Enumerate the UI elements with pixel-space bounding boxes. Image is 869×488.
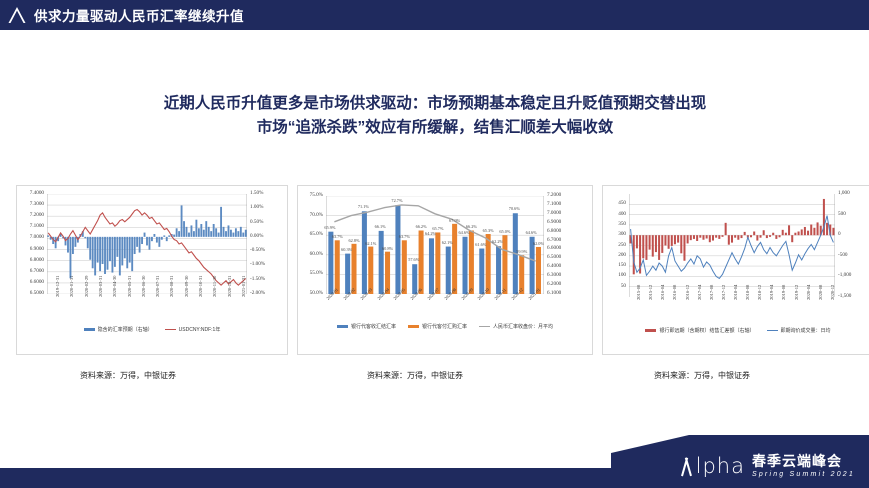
- chart-2-y-tick-left: 65.0%: [298, 232, 323, 237]
- legend-swatch-icon: [165, 329, 176, 331]
- chart-1-x-tick: 2020-02-29: [85, 276, 90, 297]
- chart-3-x-tick: 2020-04: [807, 285, 812, 300]
- chart-2-bar-label: 64.6%: [526, 231, 537, 235]
- chart-1-x-tick: 2021-01-31: [242, 276, 247, 297]
- legend-label: 人民币汇率收盘价：月平均: [493, 323, 553, 330]
- legend-label: 隐含的汇率预期（右轴）: [98, 326, 153, 333]
- summit-cn-title: 春季云端峰会: [752, 454, 842, 469]
- chart-2-bar-label: 64.2%: [425, 232, 436, 236]
- chart-2-bar-label: 60.8%: [382, 247, 393, 251]
- charts-row: 2019-12-312020-01-312020-02-292020-03-31…: [16, 185, 856, 355]
- chart-2-y-tick-right: 6.3000: [547, 273, 561, 278]
- alpha-a-icon: [678, 457, 695, 476]
- chart-2-bar-label: 65.3%: [483, 229, 494, 233]
- chart-3-x-tick: 2016-08: [673, 285, 678, 300]
- chart-3-y-tick-right: -1,500: [838, 294, 851, 299]
- legend-label: 银行即远期（含期权）结售汇差额（右轴）: [659, 327, 754, 334]
- chart-2-bar-label: 63.7%: [332, 235, 343, 239]
- chart-3-x-tick: 2017-08: [710, 285, 715, 300]
- legend-swatch-icon: [645, 329, 656, 332]
- chart-3-x-tick: 2017-12: [722, 285, 727, 300]
- chart-3-x-tick: 2018-04: [734, 285, 739, 300]
- footer-branding: lpha 春季云端峰会 Spring Summit 2021: [678, 454, 855, 478]
- chart-1-y-tick-right: 1.00%: [250, 205, 263, 210]
- chart-3-x-tick: 2018-12: [758, 285, 763, 300]
- chart-3-x-tick: 2017-04: [698, 285, 703, 300]
- chart-1-y-tick-left: 6.7000: [17, 269, 44, 274]
- chart-1-y-tick-right: -1.00%: [250, 262, 265, 267]
- legend-swatch-icon: [479, 326, 490, 328]
- chart-3-x-tick: 2020-08: [819, 285, 824, 300]
- chart-2-bar-label: 64.6%: [459, 231, 470, 235]
- alpha-brand-text: lpha: [696, 454, 745, 478]
- chart-2-y-tick-right: 6.4000: [547, 264, 561, 269]
- source-note-chart-1: 资料来源：万得，中银证券: [80, 370, 176, 381]
- chart-3-y-tick-right: -1,000: [838, 273, 851, 278]
- summit-en-title: Spring Summit 2021: [752, 471, 855, 478]
- chart-3-y-tick-right: -500: [838, 253, 848, 258]
- chart-2-bar-label: 62.0%: [533, 242, 544, 246]
- legend-item: USDCNY:NDF:1年: [165, 326, 221, 333]
- source-note-chart-2: 资料来源：万得，中银证券: [367, 370, 463, 381]
- chart-2-bar-label: 62.1%: [365, 242, 376, 246]
- slide-root: 供求力量驱动人民币汇率继续升值 近期人民币升值更多是市场供求驱动：市场预期基本稳…: [0, 0, 869, 488]
- chart-1-x-tick: 2020-09-30: [185, 276, 190, 297]
- slide-subtitle: 近期人民币升值更多是市场供求驱动：市场预期基本稳定且升贬值预期交替出现 市场“追…: [40, 92, 830, 140]
- chart-1-y-tick-left: 7.2000: [17, 213, 44, 218]
- chart-1-y-tick-right: -2.00%: [250, 291, 265, 296]
- legend-item: 银行代客付汇购汇率: [408, 323, 467, 330]
- chart-2-bar-label: 67.9%: [449, 219, 460, 223]
- legend-label: 即期询价成交量：日均: [781, 327, 831, 334]
- slide-header: 供求力量驱动人民币汇率继续升值: [0, 0, 869, 30]
- chart-2-y-tick-left: 70.0%: [298, 213, 323, 218]
- chart-2-bar-label: 66.2%: [466, 225, 477, 229]
- chart-3-x-tick: 2015-12: [649, 285, 654, 300]
- chart-panel-3: 2015-082015-122016-042016-082016-122017-…: [602, 185, 869, 355]
- chart-3-x-tick: 2016-12: [686, 285, 691, 300]
- chart-2-bar-label: 71.1%: [358, 205, 369, 209]
- triangle-mark-icon: [0, 6, 34, 24]
- legend-swatch-icon: [84, 328, 95, 331]
- chart-3-x-tick: 2019-12: [795, 285, 800, 300]
- legend-swatch-icon: [767, 330, 778, 332]
- legend-label: 银行代客付汇购汇率: [422, 323, 467, 330]
- chart-1-x-tick: 2020-10-31: [199, 276, 204, 297]
- chart-1-x-tick: 2019-12-31: [56, 276, 61, 297]
- chart-1-y-tick-left: 6.9000: [17, 247, 44, 252]
- chart-2-y-tick-right: 6.8000: [547, 229, 561, 234]
- chart-1-x-tick: 2020-07-31: [156, 276, 161, 297]
- chart-2-y-tick-right: 6.2000: [547, 282, 561, 287]
- chart-1-y-tick-right: 0.00%: [250, 234, 263, 239]
- legend-swatch-icon: [337, 325, 348, 328]
- chart-2-bar-label: 72.7%: [391, 199, 402, 203]
- chart-3-x-tick: 2019-08: [782, 285, 787, 300]
- subtitle-line-1: 近期人民币升值更多是市场供求驱动：市场预期基本稳定且升贬值预期交替出现: [40, 92, 830, 116]
- page-title: 供求力量驱动人民币汇率继续升值: [34, 5, 244, 25]
- chart-1-y-tick-left: 6.5000: [17, 291, 44, 296]
- chart-3-y-tick-left: 200: [603, 253, 626, 258]
- legend-label: 银行代客收汇结汇率: [351, 323, 396, 330]
- chart-2-bar-label: 65.0%: [499, 230, 510, 234]
- chart-1-y-tick-right: 0.50%: [250, 220, 263, 225]
- chart-1-x-tick: 2020-12-31: [228, 276, 233, 297]
- chart-2-y-tick-right: 6.1000: [547, 291, 561, 296]
- chart-1-x-tick: 2020-08-31: [170, 276, 175, 297]
- chart-1-x-tick: 2020-04-30: [113, 276, 118, 297]
- chart-1-x-tick: 2020-06-30: [142, 276, 147, 297]
- source-note-chart-3: 资料来源：万得，中银证券: [654, 370, 750, 381]
- chart-2-y-tick-left: 60.0%: [298, 252, 323, 257]
- chart-2-bar-label: 62.1%: [442, 241, 453, 245]
- chart-3-plot-area: [629, 194, 835, 297]
- chart-2-y-tick-right: 6.9000: [547, 220, 561, 225]
- legend-item: 即期询价成交量：日均: [767, 327, 831, 334]
- chart-2-y-tick-left: 55.0%: [298, 271, 323, 276]
- chart-2-y-tick-left: 50.0%: [298, 291, 323, 296]
- chart-2-bar-label: 61.6%: [475, 243, 486, 247]
- chart-1-y-tick-left: 7.3000: [17, 202, 44, 207]
- chart-1-y-tick-left: 7.0000: [17, 235, 44, 240]
- chart-panel-1: 2019-12-312020-01-312020-02-292020-03-31…: [16, 185, 288, 355]
- legend-item: 银行即远期（含期权）结售汇差额（右轴）: [645, 327, 754, 334]
- chart-3-y-tick-left: 50: [603, 284, 626, 289]
- chart-1-y-tick-left: 7.4000: [17, 191, 44, 196]
- legend-item: 人民币汇率收盘价：月平均: [479, 323, 553, 330]
- chart-2-bar-label: 66.2%: [416, 225, 427, 229]
- chart-2-y-tick-left: 75.0%: [298, 193, 323, 198]
- chart-2-bar-label: 65.9%: [324, 226, 335, 230]
- chart-3-y-tick-left: 100: [603, 273, 626, 278]
- chart-2-bar-label: 59.9%: [516, 250, 527, 254]
- chart-3-x-tick: 2020-12: [831, 285, 836, 300]
- chart-2-bar-label: 63.7%: [399, 235, 410, 239]
- chart-2-bar-label: 62.2%: [492, 240, 503, 244]
- chart-1-y-tick-right: -0.50%: [250, 248, 265, 253]
- chart-3-y-tick-left: 300: [603, 232, 626, 237]
- chart-3-x-tick: 2015-08: [637, 285, 642, 300]
- chart-1-y-tick-left: 6.6000: [17, 280, 44, 285]
- chart-1-y-tick-right: 1.50%: [250, 191, 263, 196]
- chart-1-y-tick-right: -1.50%: [250, 277, 265, 282]
- chart-1-y-tick-left: 7.1000: [17, 224, 44, 229]
- chart-3-x-tick: 2016-04: [661, 285, 666, 300]
- chart-3-y-tick-left: 250: [603, 243, 626, 248]
- alpha-wordmark: lpha: [678, 454, 745, 478]
- chart-3-y-tick-right: 1,000: [838, 191, 850, 196]
- chart-2-bar-label: 62.8%: [348, 239, 359, 243]
- chart-3-y-tick-right: 0: [838, 232, 841, 237]
- chart-2-bar-label: 57.6%: [408, 258, 419, 262]
- chart-3-x-tick: 2019-04: [770, 285, 775, 300]
- chart-2-y-tick-right: 7.1000: [547, 202, 561, 207]
- chart-1-y-tick-left: 6.8000: [17, 258, 44, 263]
- chart-1-x-tick: 2020-05-31: [128, 276, 133, 297]
- chart-2-bar-label: 70.6%: [509, 207, 520, 211]
- subtitle-line-2: 市场“追涨杀跌”效应有所缓解，结售汇顺差大幅收敛: [40, 116, 830, 140]
- chart-2-legend: 银行代客收汇结汇率银行代客付汇购汇率人民币汇率收盘价：月平均: [298, 323, 592, 330]
- legend-item: 银行代客收汇结汇率: [337, 323, 396, 330]
- chart-panel-2: 2020-012020-022020-032020-042020-052020-…: [297, 185, 593, 355]
- summit-title-block: 春季云端峰会 Spring Summit 2021: [752, 454, 855, 478]
- legend-label: USDCNY:NDF:1年: [179, 326, 221, 333]
- legend-item: 隐含的汇率预期（右轴）: [84, 326, 153, 333]
- chart-2-bar-label: 66.1%: [375, 225, 386, 229]
- chart-2-y-tick-right: 7.0000: [547, 211, 561, 216]
- chart-1-legend: 隐含的汇率预期（右轴）USDCNY:NDF:1年: [17, 326, 287, 333]
- chart-3-svg: [629, 194, 835, 297]
- chart-2-bar-label: 65.7%: [432, 227, 443, 231]
- chart-3-legend: 银行即远期（含期权）结售汇差额（右轴）即期询价成交量：日均: [603, 327, 869, 334]
- chart-1-x-tick: 2020-03-31: [99, 276, 104, 297]
- chart-3-y-tick-left: 350: [603, 222, 626, 227]
- legend-swatch-icon: [408, 325, 419, 328]
- chart-3-y-tick-left: 400: [603, 212, 626, 217]
- chart-2-y-tick-right: 7.2000: [547, 193, 561, 198]
- chart-3-y-tick-right: 500: [838, 212, 846, 217]
- chart-2-bar-label: 60.3%: [341, 248, 352, 252]
- chart-1-x-tick: 2020-11-30: [213, 276, 218, 297]
- chart-1-x-tick: 2020-01-31: [70, 276, 75, 297]
- chart-3-y-tick-left: 450: [603, 201, 626, 206]
- chart-2-y-tick-right: 6.5000: [547, 255, 561, 260]
- chart-2-y-tick-right: 6.7000: [547, 238, 561, 243]
- chart-3-y-tick-left: 150: [603, 263, 626, 268]
- chart-3-x-tick: 2018-08: [746, 285, 751, 300]
- chart-2-y-tick-right: 6.6000: [547, 246, 561, 251]
